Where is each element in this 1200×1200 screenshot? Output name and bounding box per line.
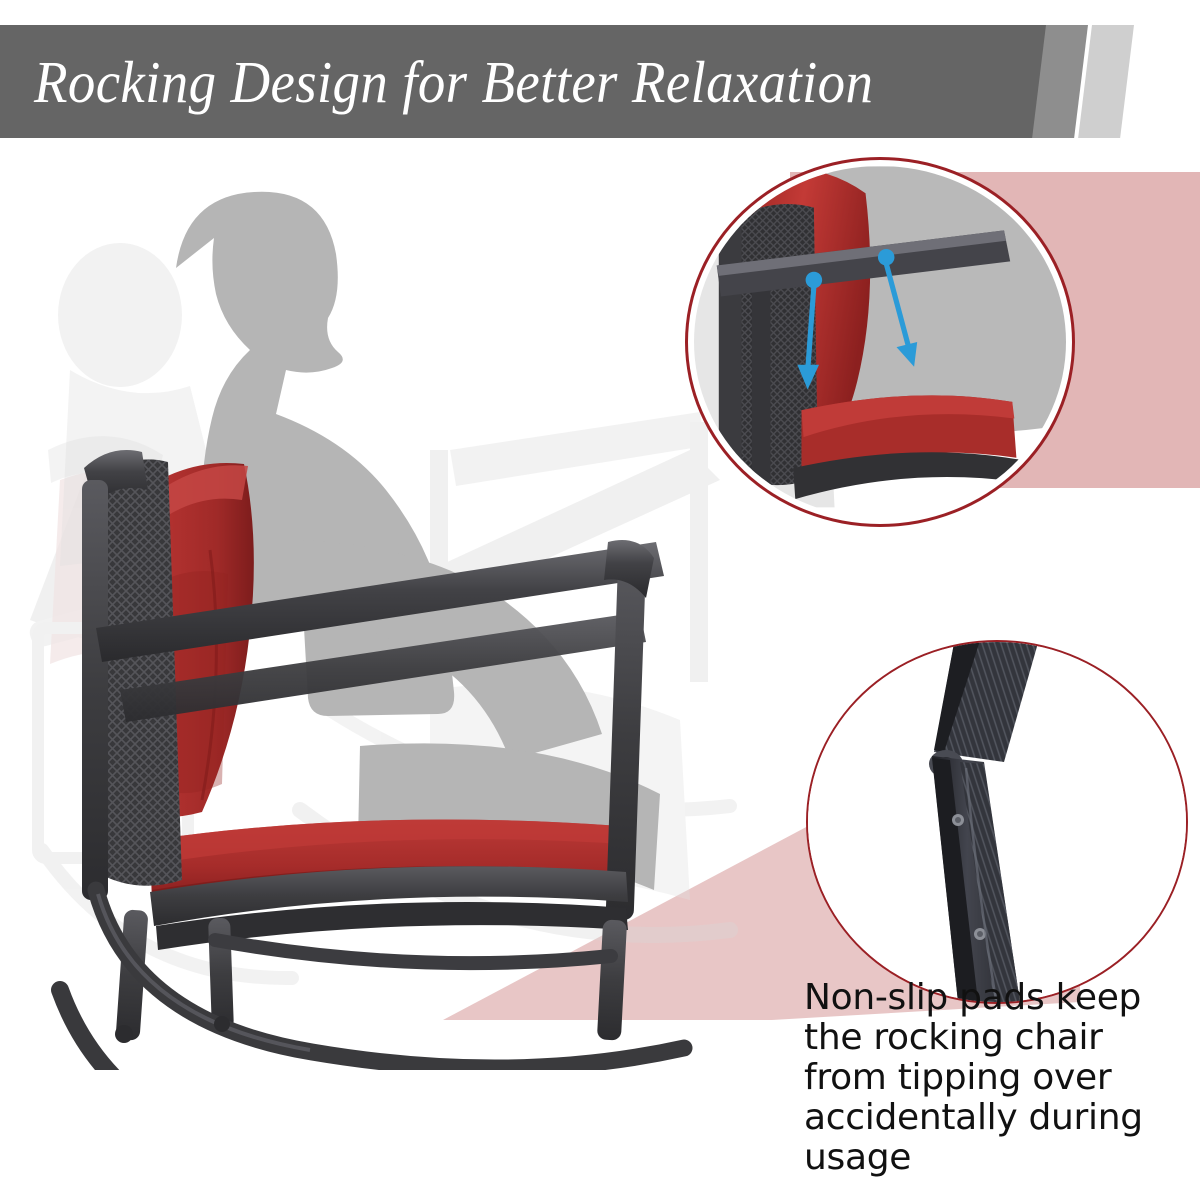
caption-non-slip-pads: Non-slip pads keep the rocking chair fro… (804, 978, 1196, 1178)
callout-non-slip-pad-detail[interactable] (806, 640, 1188, 1004)
banner-stripe-light (1078, 25, 1134, 138)
header-banner: Rocking Design for Better Relaxation (0, 25, 1200, 138)
product-feature-image: Rocking Design for Better Relaxation (0, 0, 1200, 1200)
page-title: Rocking Design for Better Relaxation (34, 51, 873, 113)
callout-cushion-detail[interactable] (688, 160, 1072, 524)
